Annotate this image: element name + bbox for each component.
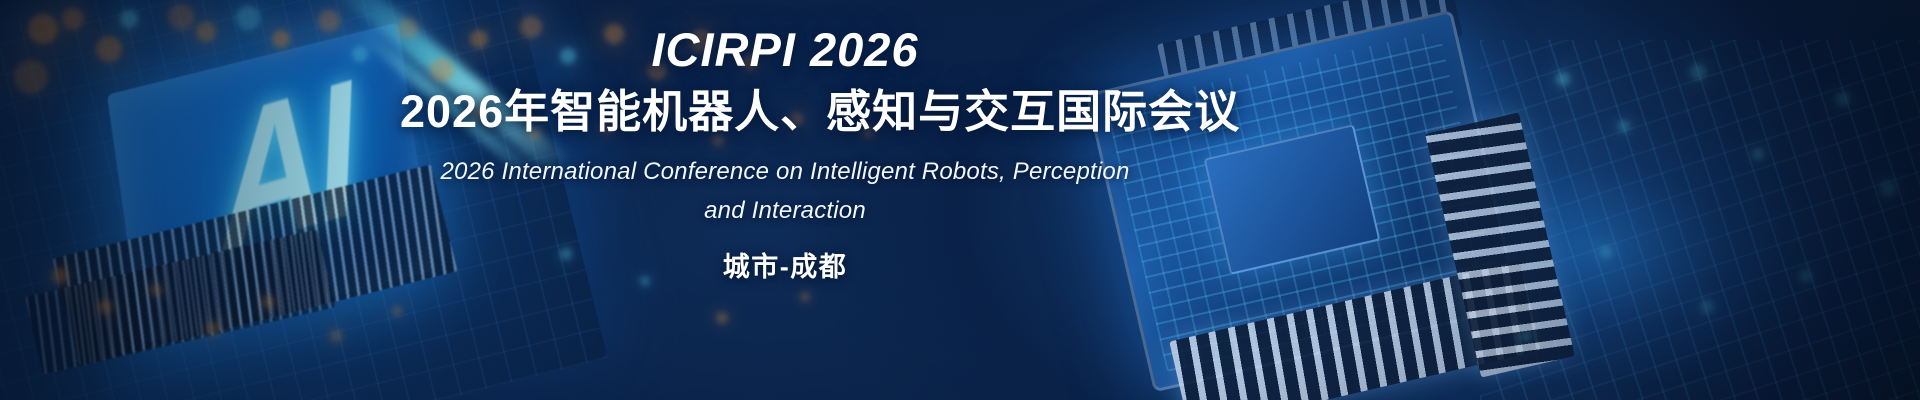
conference-acronym: ICIRPI 2026: [400, 26, 1170, 73]
banner-text-block: ICIRPI 2026 2026年智能机器人、感知与交互国际会议 2026 In…: [400, 26, 1170, 284]
conference-city: 城市-成都: [400, 245, 1170, 284]
conference-title-english: 2026 International Conference on Intelli…: [400, 153, 1170, 231]
conference-title-english-line1: 2026 International Conference on Intelli…: [400, 153, 1170, 192]
conference-title-chinese: 2026年智能机器人、感知与交互国际会议: [400, 87, 1170, 137]
conference-banner: AI ICIRPI 2026 2026年智能机器人、感知与交互国际会议 2026…: [0, 0, 1920, 400]
conference-title-english-line2: and Interaction: [400, 192, 1170, 231]
